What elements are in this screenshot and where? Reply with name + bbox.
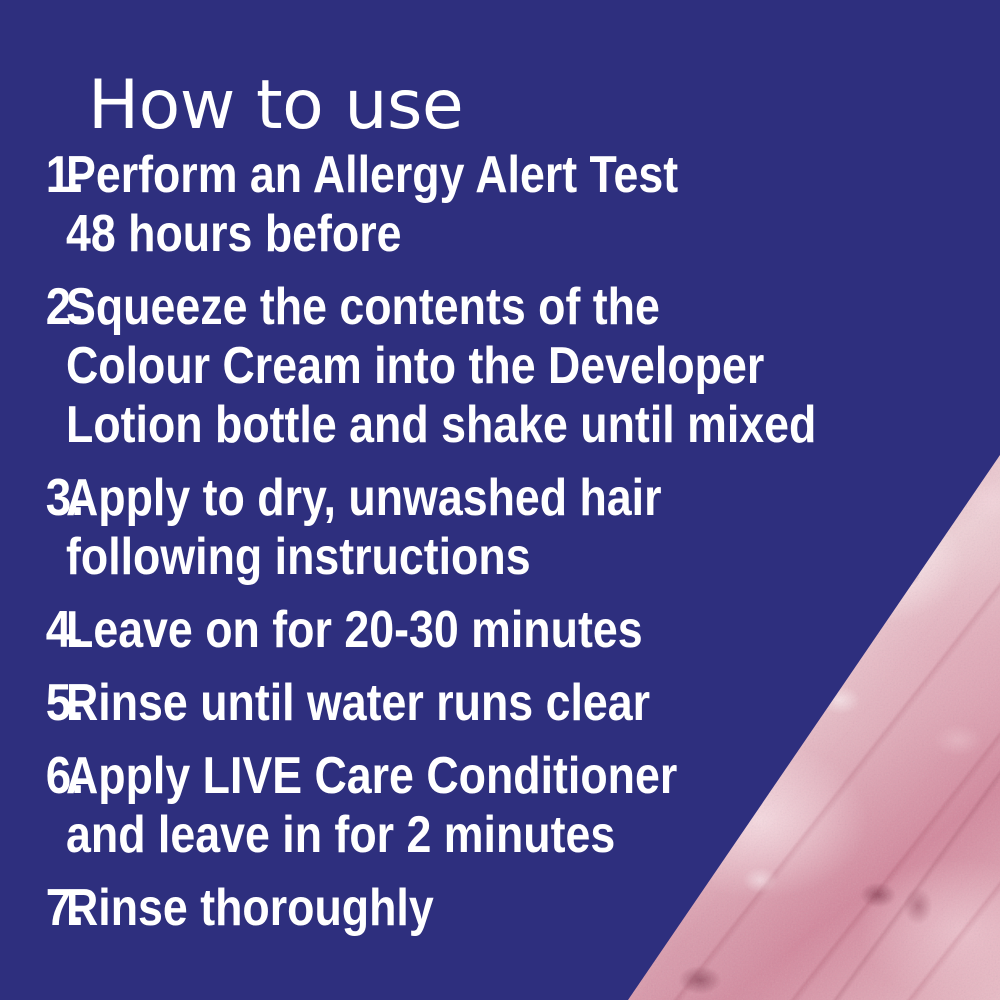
list-item: 3. Apply to dry, unwashed hair following…: [0, 469, 960, 587]
list-item: 4. Leave on for 20-30 minutes: [0, 601, 960, 660]
step-number: 3.: [0, 469, 58, 528]
step-text: Rinse until water runs clear: [66, 674, 835, 733]
step-number: 4.: [0, 601, 58, 660]
step-text-line: Perform an Allergy Alert Test: [66, 146, 835, 205]
step-text-line: Squeeze the contents of the: [66, 278, 835, 337]
step-text: Rinse thoroughly: [66, 879, 835, 938]
step-number: 7.: [0, 879, 58, 938]
step-number: 2.: [0, 278, 58, 337]
list-item: 2. Squeeze the contents of the Colour Cr…: [0, 278, 960, 455]
step-text-line: 48 hours before: [66, 205, 835, 264]
step-text: Leave on for 20-30 minutes: [66, 601, 835, 660]
page-title: How to use: [88, 70, 463, 142]
step-text: Squeeze the contents of the Colour Cream…: [66, 278, 835, 455]
list-item: 1. Perform an Allergy Alert Test 48 hour…: [0, 146, 960, 264]
step-text-line: Rinse thoroughly: [66, 879, 835, 938]
step-text-line: and leave in for 2 minutes: [66, 806, 835, 865]
list-item: 6. Apply LIVE Care Conditioner and leave…: [0, 747, 960, 865]
step-text-line: Apply LIVE Care Conditioner: [66, 747, 835, 806]
step-number: 5.: [0, 674, 58, 733]
list-item: 7. Rinse thoroughly: [0, 879, 960, 938]
step-text-line: Apply to dry, unwashed hair: [66, 469, 835, 528]
step-text-line: Lotion bottle and shake until mixed: [66, 396, 835, 455]
step-number: 6.: [0, 747, 58, 806]
step-text-line: following instructions: [66, 528, 835, 587]
step-text-line: Colour Cream into the Developer: [66, 337, 835, 396]
instruction-steps-list: 1. Perform an Allergy Alert Test 48 hour…: [0, 146, 960, 952]
how-to-use-poster: How to use 1. Perform an Allergy Alert T…: [0, 0, 1000, 1000]
step-text: Apply to dry, unwashed hair following in…: [66, 469, 835, 587]
step-text-line: Leave on for 20-30 minutes: [66, 601, 835, 660]
list-item: 5. Rinse until water runs clear: [0, 674, 960, 733]
step-text: Apply LIVE Care Conditioner and leave in…: [66, 747, 835, 865]
step-number: 1.: [0, 146, 58, 205]
step-text-line: Rinse until water runs clear: [66, 674, 835, 733]
step-text: Perform an Allergy Alert Test 48 hours b…: [66, 146, 835, 264]
